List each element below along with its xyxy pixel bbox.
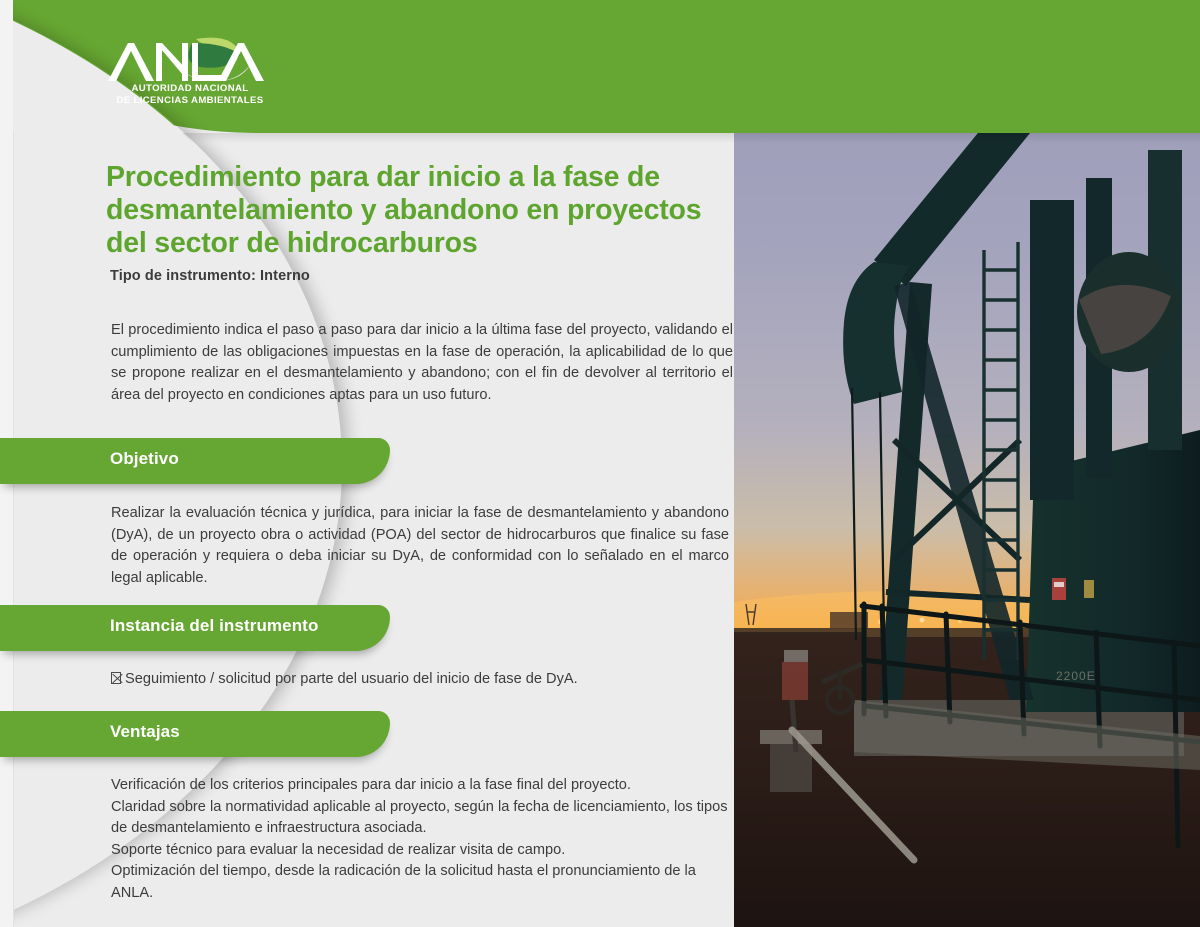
anla-logo[interactable]: AUTORIDAD NACIONAL DE LICENCIAS AMBIENTA… — [104, 33, 274, 105]
list-item: Optimización del tiempo, desde la radica… — [111, 861, 729, 904]
logo-subtitle: AUTORIDAD NACIONAL DE LICENCIAS AMBIENTA… — [106, 83, 274, 106]
svg-text:2200E: 2200E — [1056, 669, 1096, 683]
intro-paragraph: El procedimiento indica el paso a paso p… — [111, 320, 733, 406]
section-header-objetivo: Objetivo — [0, 438, 390, 484]
content-column: Procedimiento para dar inicio a la fase … — [0, 133, 760, 927]
section-label-instancia: Instancia del instrumento — [110, 616, 318, 636]
section-body-instancia: Seguimiento / solicitud por parte del us… — [111, 669, 729, 691]
infographic-page: LUFKIN — [0, 0, 1200, 927]
page-title: Procedimiento para dar inicio a la fase … — [106, 161, 746, 260]
list-item: Verificación de los criterios principale… — [111, 775, 729, 797]
section-header-instancia: Instancia del instrumento — [0, 605, 390, 651]
section-body-objetivo: Realizar la evaluación técnica y jurídic… — [111, 503, 729, 589]
instrument-type-label: Tipo de instrumento: Interno — [110, 268, 310, 284]
list-item: Soporte técnico para evaluar la necesida… — [111, 840, 729, 862]
anla-wordmark-icon — [104, 33, 274, 85]
section-label-objetivo: Objetivo — [110, 449, 179, 469]
instancia-bullet-text: Seguimiento / solicitud por parte del us… — [125, 671, 578, 687]
section-header-ventajas: Ventajas — [0, 711, 390, 757]
section-body-ventajas: Verificación de los criterios principale… — [111, 775, 729, 904]
section-label-ventajas: Ventajas — [110, 722, 180, 742]
ballot-box-x-icon — [111, 672, 121, 684]
list-item: Claridad sobre la normatividad aplicable… — [111, 797, 729, 840]
